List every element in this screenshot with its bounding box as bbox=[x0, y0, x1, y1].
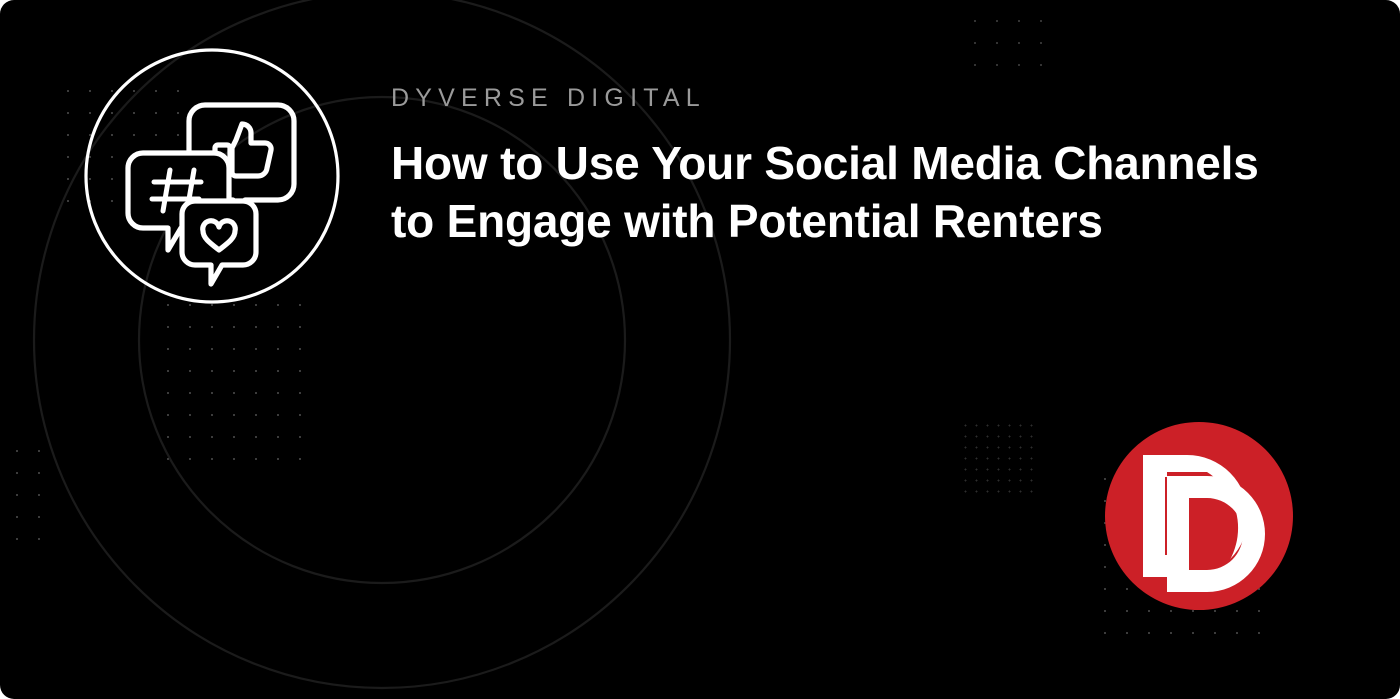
social-engagement-icon bbox=[84, 48, 340, 304]
dot-grid-mid-right bbox=[958, 418, 1034, 498]
dot-grid-top-right bbox=[962, 8, 1058, 78]
heart-speech-bubble bbox=[182, 201, 256, 284]
banner-text-block: DYVERSE DIGITAL How to Use Your Social M… bbox=[391, 86, 1291, 251]
brand-eyebrow: DYVERSE DIGITAL bbox=[391, 86, 1291, 111]
dot-grid-edge-left bbox=[4, 438, 56, 553]
headline-line-1: How to Use Your Social Media Channels bbox=[391, 135, 1291, 193]
dot-grid-mid-left bbox=[155, 292, 317, 472]
headline-line-2: to Engage with Potential Renters bbox=[391, 193, 1291, 251]
dyverse-digital-logo bbox=[1105, 422, 1293, 610]
thumbs-up-icon bbox=[232, 124, 271, 176]
social-media-blog-banner: DYVERSE DIGITAL How to Use Your Social M… bbox=[0, 0, 1400, 699]
page-title: How to Use Your Social Media Channels to… bbox=[391, 135, 1291, 251]
